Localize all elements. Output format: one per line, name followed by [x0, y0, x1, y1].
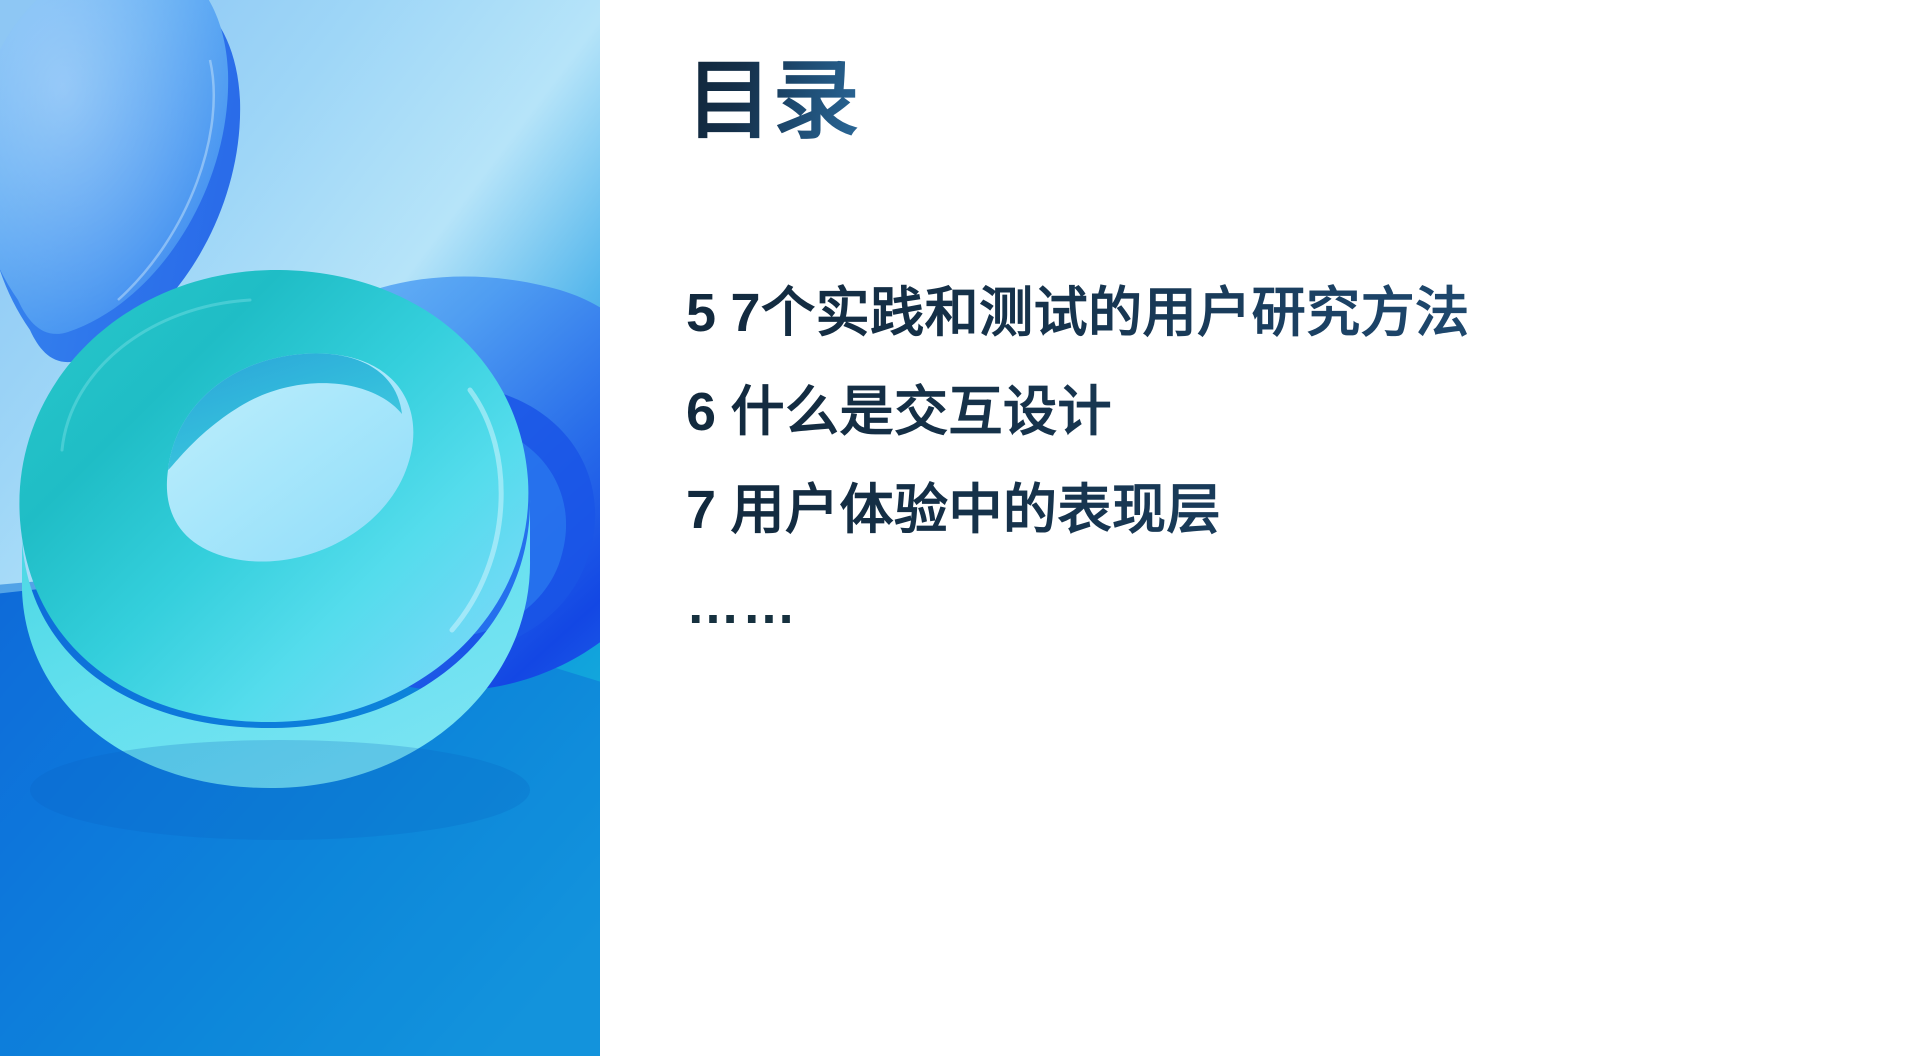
table-of-contents-list: 57个实践和测试的用户研究方法 6什么是交互设计 7用户体验中的表现层 …… — [686, 282, 1866, 632]
toc-entry[interactable]: 6什么是交互设计 — [686, 381, 1866, 444]
toc-entry-number: 7 — [686, 480, 717, 540]
page-title: 目录 — [686, 56, 860, 146]
toc-entry-label: 用户体验中的表现层 — [731, 480, 1222, 540]
abstract-3d-artwork-icon — [0, 0, 600, 1056]
decorative-visual-panel — [0, 0, 600, 1056]
toc-entry-label: 7个实践和测试的用户研究方法 — [731, 283, 1470, 343]
toc-entry[interactable]: 7用户体验中的表现层 — [686, 479, 1866, 542]
toc-entry-number: 5 — [686, 283, 717, 343]
slide-root: 目录 57个实践和测试的用户研究方法 6什么是交互设计 7用户体验中的表现层 …… — [0, 0, 1920, 1056]
toc-entry-number: 6 — [686, 382, 717, 442]
slide-content: 目录 57个实践和测试的用户研究方法 6什么是交互设计 7用户体验中的表现层 …… — [686, 0, 1866, 1056]
toc-entry-label: 什么是交互设计 — [731, 382, 1113, 442]
toc-entry[interactable]: 57个实践和测试的用户研究方法 — [686, 282, 1866, 345]
toc-more-ellipsis: …… — [686, 578, 1866, 632]
